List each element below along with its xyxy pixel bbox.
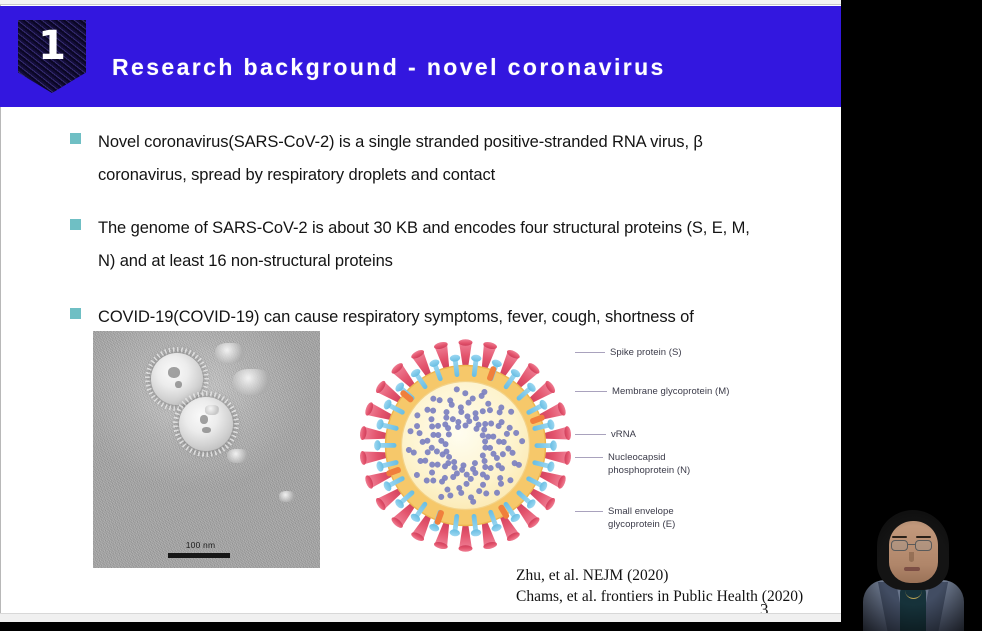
bullet-item-2: The genome of SARS-CoV-2 is about 30 KB …	[70, 212, 770, 278]
electron-micrograph-image: 100 nm	[93, 331, 320, 568]
spike-protein	[542, 426, 572, 443]
spike-protein	[542, 448, 572, 465]
micrograph-debris	[233, 369, 271, 395]
spike-protein	[459, 339, 473, 367]
nucleocapsid-line-1: Nucleocapsid	[608, 452, 690, 465]
virion-svg	[348, 328, 583, 563]
slide-header-band: Research background - novel coronavirus	[0, 6, 841, 107]
virion-pit	[168, 367, 180, 378]
virion-pit	[200, 415, 208, 424]
scale-bar	[168, 553, 230, 558]
diagram-label-envelope: Small envelope glycoprotein (E)	[608, 506, 675, 531]
virion-pit	[175, 381, 182, 388]
micrograph-debris	[205, 405, 219, 415]
bullet-item-1: Novel coronavirus(SARS-CoV-2) is a singl…	[70, 126, 770, 192]
micrograph-debris	[215, 343, 245, 363]
spike-protein	[359, 426, 389, 443]
page-title: Research background - novel coronavirus	[112, 54, 666, 81]
presentation-slide: Research background - novel coronavirus …	[0, 0, 841, 622]
virion-lumen	[402, 382, 530, 510]
slide-top-hairline	[0, 4, 841, 5]
bullet-text-2: The genome of SARS-CoV-2 is about 30 KB …	[98, 212, 770, 278]
section-number-badge: 1	[18, 20, 86, 93]
diagram-label-membrane: Membrane glycoprotein (M)	[612, 386, 729, 399]
webcam-vignette	[845, 494, 982, 631]
bullet-square-icon	[70, 308, 81, 319]
diagram-label-vrna: vRNA	[611, 429, 636, 442]
screen-capture: Research background - novel coronavirus …	[0, 0, 982, 631]
diagram-label-nucleocapsid: Nucleocapsid phosphoprotein (N)	[608, 452, 690, 477]
slide-bottom-strip	[0, 613, 841, 622]
presenter-webcam-tile[interactable]	[845, 494, 982, 631]
micrograph-debris	[227, 449, 249, 463]
diagram-label-spike: Spike protein (S)	[610, 347, 682, 360]
envelope-line-1: Small envelope	[608, 506, 675, 519]
bullet-square-icon	[70, 133, 81, 144]
virion-pit	[202, 427, 211, 433]
leader-line-envelope	[575, 511, 603, 512]
scale-bar-label: 100 nm	[153, 540, 248, 550]
leader-line-spike	[575, 352, 605, 353]
leader-line-membrane	[575, 391, 607, 392]
leader-line-vrna	[575, 434, 606, 435]
spike-protein	[459, 524, 473, 552]
virion-schematic-diagram	[348, 328, 583, 563]
spike-protein	[359, 448, 389, 465]
nucleocapsid-line-2: phosphoprotein (N)	[608, 465, 690, 478]
badge-number-label: 1	[18, 26, 86, 66]
citation-1: Zhu, et al. NEJM (2020)	[516, 565, 803, 586]
bullet-text-1: Novel coronavirus(SARS-CoV-2) is a singl…	[98, 126, 770, 192]
leader-line-nucleocapsid	[575, 457, 603, 458]
envelope-line-2: glycoprotein (E)	[608, 519, 675, 532]
micrograph-debris	[279, 491, 295, 502]
bullet-square-icon	[70, 219, 81, 230]
